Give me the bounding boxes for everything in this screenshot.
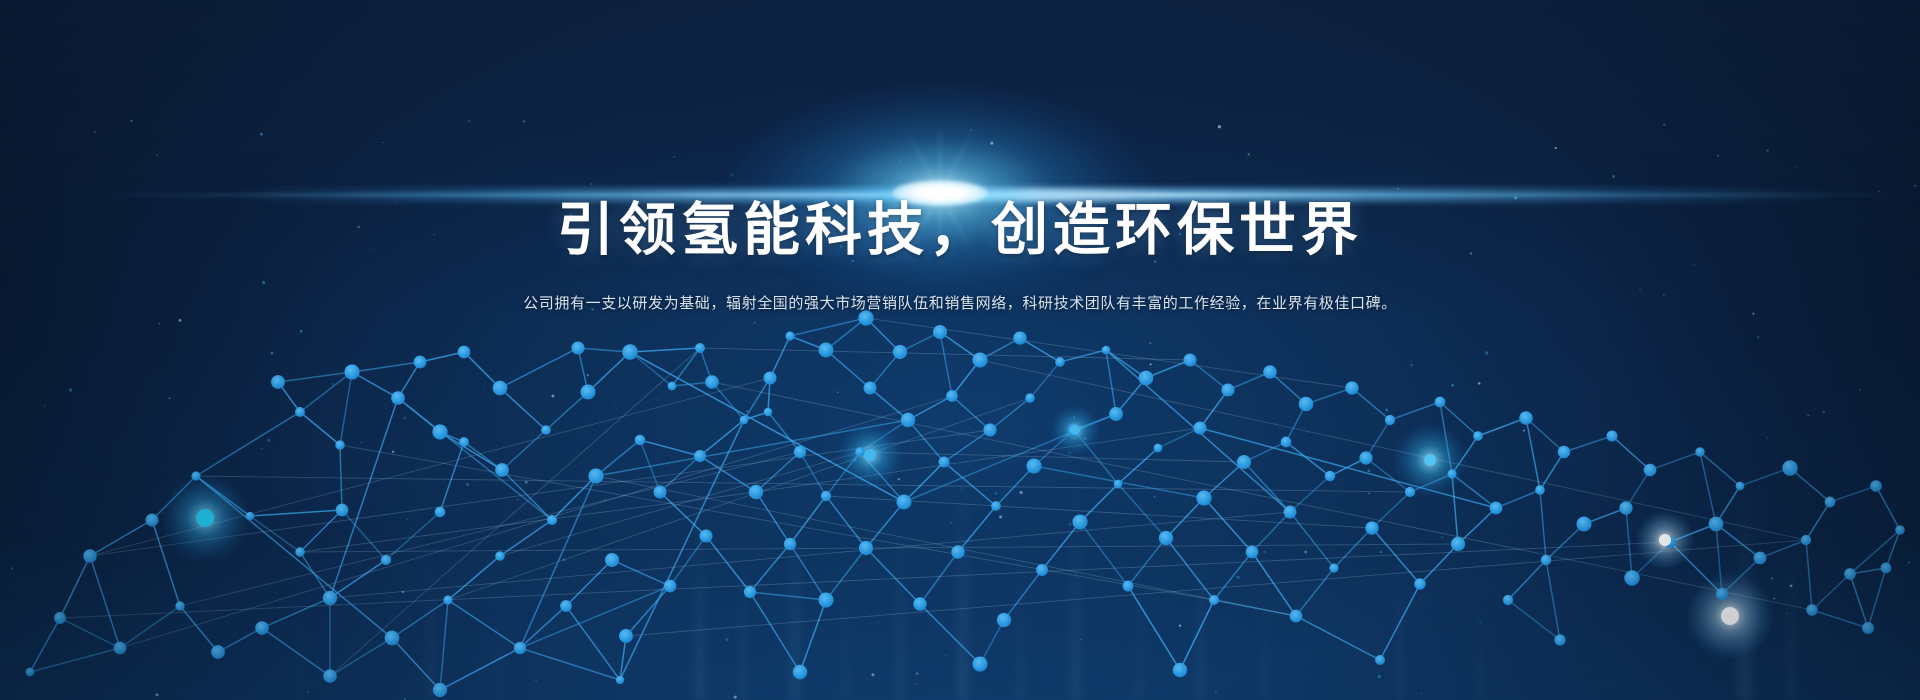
background-vignette	[0, 0, 1920, 700]
hero-text-block: 引领氢能科技，创造环保世界 公司拥有一支以研发为基础，辐射全国的强大市场营销队伍…	[0, 196, 1920, 316]
hero-banner: 引领氢能科技，创造环保世界 公司拥有一支以研发为基础，辐射全国的强大市场营销队伍…	[0, 0, 1920, 700]
hero-subtitle: 公司拥有一支以研发为基础，辐射全国的强大市场营销队伍和销售网络，科研技术团队有丰…	[0, 292, 1920, 316]
page-title: 引领氢能科技，创造环保世界	[0, 196, 1920, 266]
